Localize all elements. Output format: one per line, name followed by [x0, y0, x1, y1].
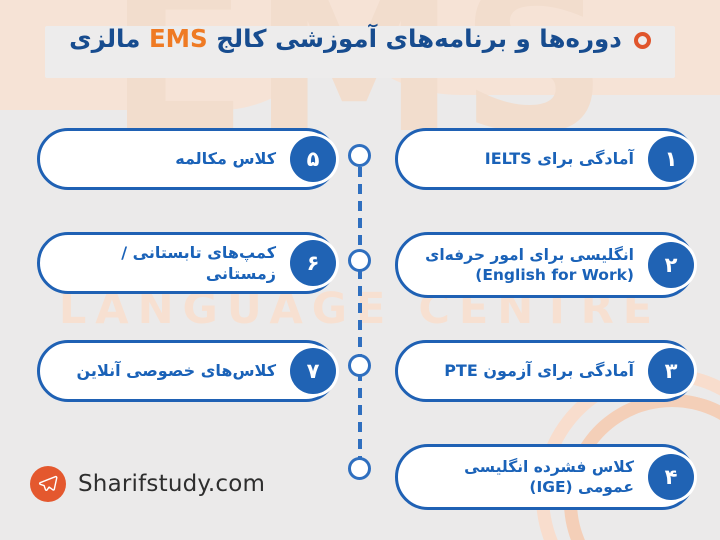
program-item-2[interactable]: انگلیسی برای امور حرفه‌ای (English for W… [395, 232, 695, 298]
program-number-badge-7: ۷ [290, 348, 336, 394]
program-item-7[interactable]: کلاس‌های خصوصی آنلاین ۷ [37, 340, 337, 402]
page-header: دوره‌ها و برنامه‌های آموزشی کالج EMS مال… [28, 24, 692, 53]
footer-branding[interactable]: Sharifstudy.com [30, 466, 265, 502]
program-item-4[interactable]: کلاس فشرده انگلیسی عمومی (IGE) ۴ [395, 444, 695, 510]
program-label-6-line1: کمپ‌های تابستانی / زمستانی [121, 243, 276, 283]
timeline-spine [358, 150, 362, 470]
program-label-7: کلاس‌های خصوصی آنلاین [56, 360, 276, 381]
program-label-4: کلاس فشرده انگلیسی عمومی (IGE) [414, 457, 634, 498]
program-item-5[interactable]: کلاس مکالمه ۵ [37, 128, 337, 190]
program-list-left: کلاس مکالمه ۵ کمپ‌های تابستانی / زمستانی… [27, 128, 337, 444]
program-label-2-line1: انگلیسی برای امور حرفه‌ای [425, 246, 634, 264]
paper-plane-icon [30, 466, 66, 502]
program-label-1-line1: آمادگی برای IELTS [485, 149, 634, 168]
program-item-1[interactable]: آمادگی برای IELTS ۱ [395, 128, 695, 190]
timeline-node-icon [348, 354, 371, 377]
program-label-5-line1: کلاس مکالمه [175, 149, 276, 168]
page-title-suffix: مالزی [69, 24, 149, 53]
program-label-2-line2: (English for Work) [414, 265, 634, 285]
program-item-6[interactable]: کمپ‌های تابستانی / زمستانی ۶ [37, 232, 337, 294]
program-number-badge-1: ۱ [648, 136, 694, 182]
program-label-4-line1: کلاس فشرده انگلیسی [464, 458, 634, 476]
program-item-3[interactable]: آمادگی برای آزمون PTE ۳ [395, 340, 695, 402]
program-list-right: آمادگی برای IELTS ۱ انگلیسی برای امور حر… [385, 128, 695, 540]
program-label-1: آمادگی برای IELTS [414, 148, 634, 169]
timeline-node-icon [348, 144, 371, 167]
program-label-3-line1: آمادگی برای آزمون PTE [444, 361, 634, 380]
program-label-3: آمادگی برای آزمون PTE [414, 360, 634, 381]
page-title: دوره‌ها و برنامه‌های آموزشی کالج EMS مال… [69, 24, 622, 53]
program-number-badge-4: ۴ [648, 454, 694, 500]
page-title-accent: EMS [149, 24, 208, 53]
page-title-prefix: دوره‌ها و برنامه‌های آموزشی کالج [208, 24, 622, 53]
infographic-canvas: EMS LANGUAGE CENTRE دوره‌ها و برنامه‌های… [0, 0, 720, 540]
program-label-5: کلاس مکالمه [56, 148, 276, 169]
program-number-badge-6: ۶ [290, 240, 336, 286]
timeline-node-icon [348, 249, 371, 272]
program-number-badge-5: ۵ [290, 136, 336, 182]
program-label-4-line2: عمومی (IGE) [414, 477, 634, 497]
footer-website-text: Sharifstudy.com [78, 471, 265, 497]
program-label-7-line1: کلاس‌های خصوصی آنلاین [77, 361, 276, 380]
timeline-node-icon [348, 457, 371, 480]
program-number-badge-3: ۳ [648, 348, 694, 394]
ring-bullet-icon [634, 32, 651, 49]
peach-panel-left [0, 0, 340, 110]
program-label-2: انگلیسی برای امور حرفه‌ای (English for W… [414, 245, 634, 286]
program-number-badge-2: ۲ [648, 242, 694, 288]
program-label-6: کمپ‌های تابستانی / زمستانی [56, 242, 276, 284]
